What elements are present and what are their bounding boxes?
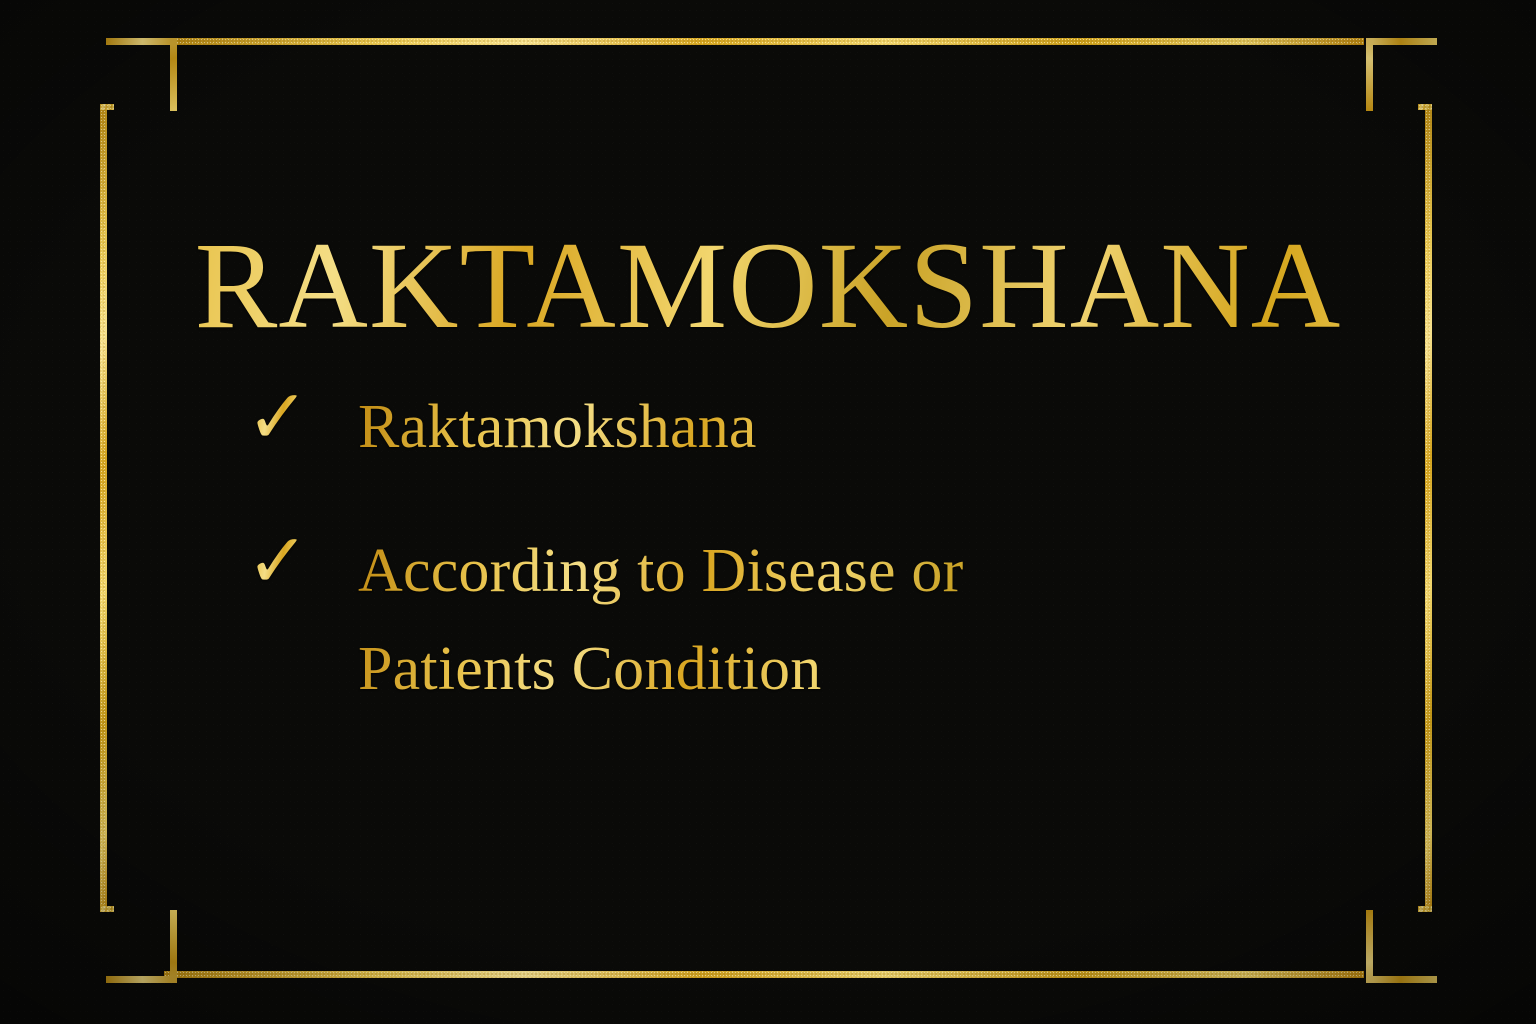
bullet-list: ✓ Raktamokshana ✓ According to Disease o… [246, 378, 1366, 764]
slide-canvas: RAKTAMOKSHANA ✓ Raktamokshana ✓ Accordin… [0, 0, 1536, 1024]
check-icon: ✓ [246, 522, 358, 600]
check-icon: ✓ [246, 378, 358, 456]
slide-title: RAKTAMOKSHANA [0, 221, 1536, 351]
list-item: ✓ Raktamokshana [246, 378, 1366, 476]
list-item-label: Raktamokshana [358, 378, 1366, 476]
list-item-label: According to Disease or Patients Conditi… [358, 522, 1366, 718]
list-item: ✓ According to Disease or Patients Condi… [246, 522, 1366, 718]
slide-content: RAKTAMOKSHANA ✓ Raktamokshana ✓ Accordin… [0, 0, 1536, 1024]
